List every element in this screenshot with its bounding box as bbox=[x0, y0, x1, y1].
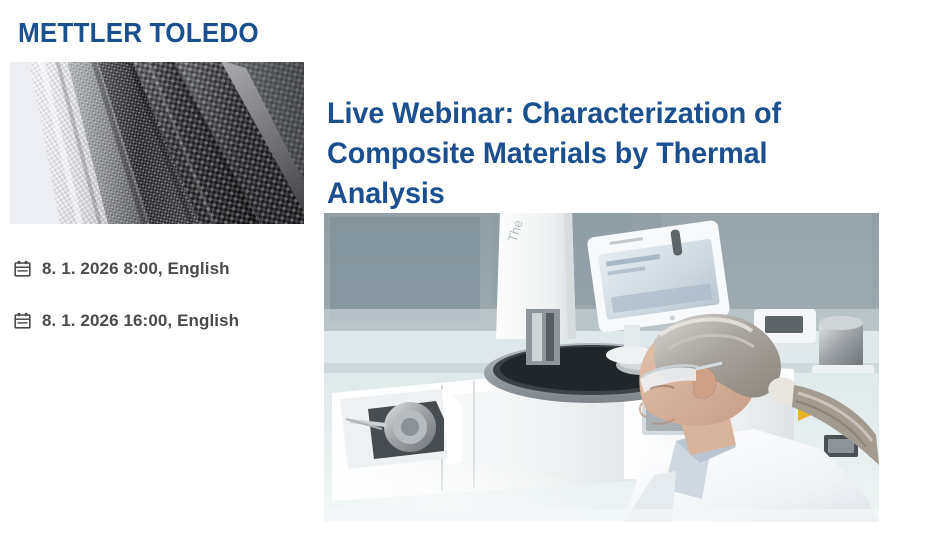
session-datetime: 8. 1. 2026 8:00, English bbox=[42, 260, 230, 277]
lab-scene-illustration: The bbox=[324, 213, 879, 522]
calendar-glyph bbox=[14, 312, 31, 329]
calendar-icon bbox=[14, 260, 31, 277]
calendar-icon bbox=[14, 312, 31, 329]
calendar-glyph bbox=[14, 260, 31, 277]
webinar-promo-card: METTLER TOLEDO bbox=[0, 0, 940, 533]
session-item[interactable]: 8. 1. 2026 8:00, English bbox=[14, 251, 314, 285]
composite-fabric-thumbnail[interactable] bbox=[10, 62, 304, 224]
page-title: Live Webinar: Characterization of Compos… bbox=[327, 94, 879, 214]
session-datetime: 8. 1. 2026 16:00, English bbox=[42, 312, 239, 329]
mettler-toledo-logo: METTLER TOLEDO bbox=[18, 19, 259, 47]
lab-instrument-photo[interactable]: The bbox=[324, 213, 879, 522]
session-list: 8. 1. 2026 8:00, English 8. 1. 2026 16:0… bbox=[14, 251, 314, 355]
composite-fabric-illustration bbox=[10, 62, 304, 224]
session-item[interactable]: 8. 1. 2026 16:00, English bbox=[14, 303, 314, 337]
